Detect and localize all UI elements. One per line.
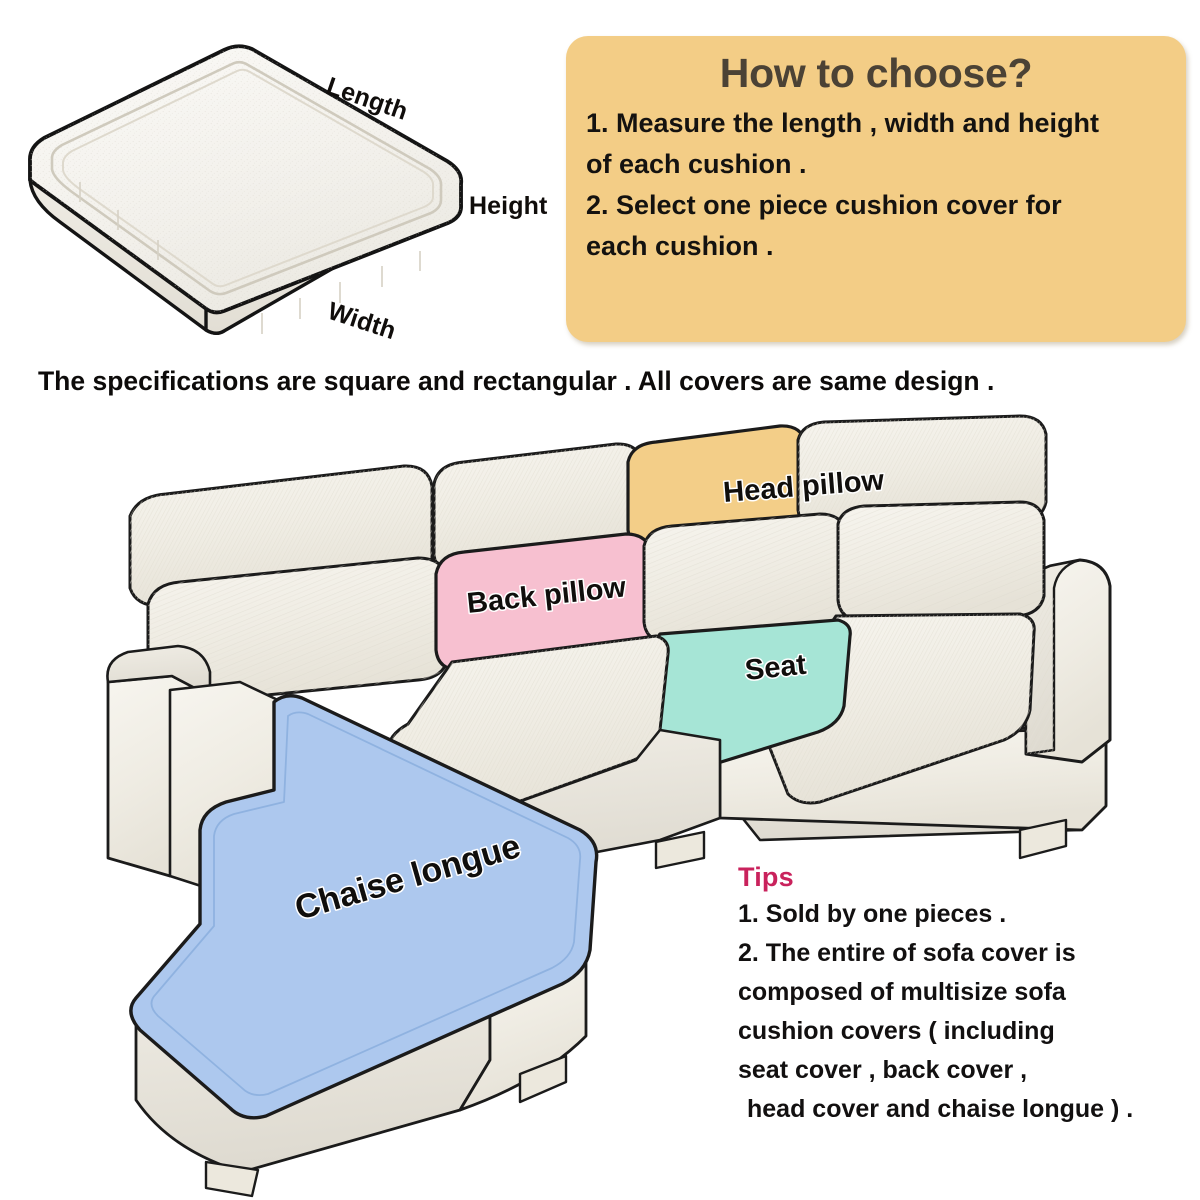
cushion-dimension-diagram: Length Height Width <box>0 14 566 364</box>
how-to-choose-line-2: of each cushion . <box>586 144 1168 185</box>
how-to-choose-line-1: 1. Measure the length , width and height <box>586 103 1168 144</box>
how-to-choose-line-4: each cushion . <box>586 226 1168 267</box>
tips-line-4: cushion covers ( including <box>738 1012 1193 1051</box>
tips-block: Tips 1. Sold by one pieces . 2. The enti… <box>738 862 1193 1129</box>
cushion-texture <box>30 46 461 312</box>
tips-line-6: head cover and chaise longue ) . <box>738 1090 1193 1129</box>
how-to-choose-panel: How to choose? 1. Measure the length , w… <box>566 36 1186 342</box>
tips-line-2: 2. The entire of sofa cover is <box>738 934 1193 973</box>
specifications-caption: The specifications are square and rectan… <box>38 366 1178 397</box>
back-cushion-lower-right-texture <box>838 502 1044 620</box>
how-to-choose-line-3: 2. Select one piece cushion cover for <box>586 185 1168 226</box>
tips-line-5: seat cover , back cover , <box>738 1051 1193 1090</box>
seat-label: Seat <box>743 649 808 687</box>
cushion-3d-illustration <box>0 14 566 364</box>
tips-heading: Tips <box>738 862 1193 893</box>
tips-line-1: 1. Sold by one pieces . <box>738 895 1193 934</box>
dimension-label-height: Height <box>469 192 547 221</box>
how-to-choose-title: How to choose? <box>584 50 1168 97</box>
infographic-page: Length Height Width How to choose? 1. Me… <box>0 0 1200 1200</box>
tips-line-3: composed of multisize sofa <box>738 973 1193 1012</box>
